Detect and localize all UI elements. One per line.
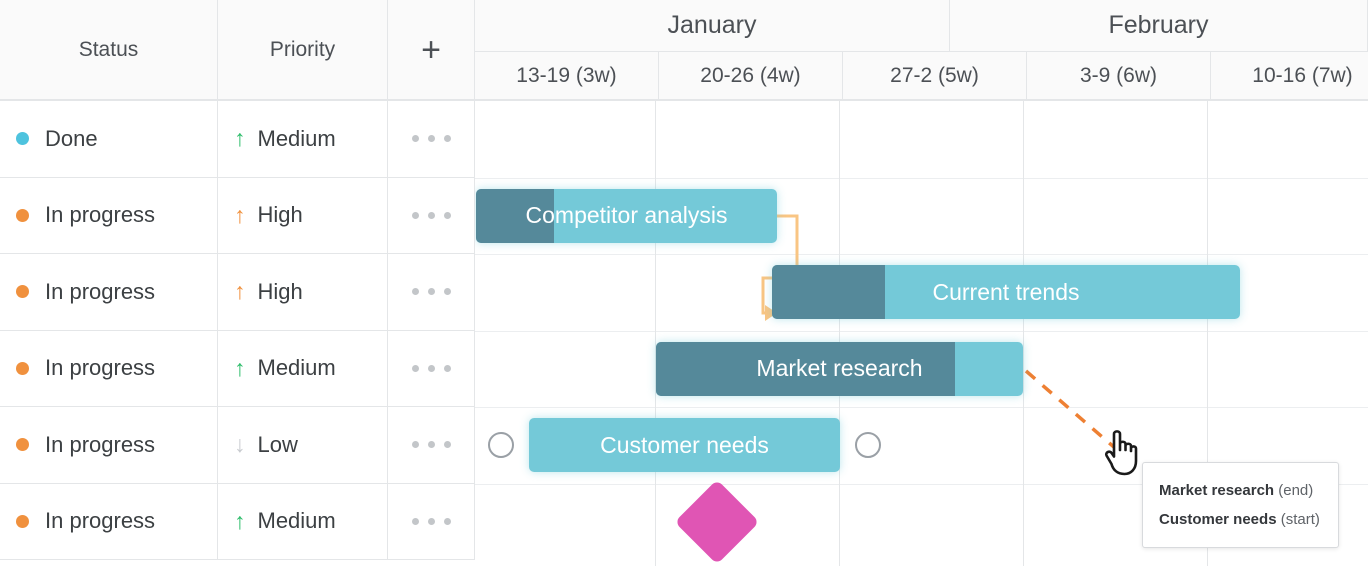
status-label: In progress (45, 432, 155, 458)
gantt-bar-label: Current trends (772, 279, 1240, 306)
table-row[interactable]: In progress↑Medium (0, 484, 475, 561)
week-label: 10-16 (7w) (1252, 64, 1352, 88)
column-header-status[interactable]: Status (0, 0, 218, 99)
bar-end-connector-handle[interactable] (855, 432, 881, 458)
cell-priority[interactable]: ↑Medium (218, 331, 388, 407)
cell-priority[interactable]: ↑High (218, 178, 388, 254)
bar-start-connector-handle[interactable] (488, 432, 514, 458)
column-header-priority[interactable]: Priority (218, 0, 388, 99)
grid-horizontal-line (475, 254, 1368, 255)
cell-priority[interactable]: ↑High (218, 254, 388, 330)
status-label: In progress (45, 279, 155, 305)
priority-arrow-icon: ↑ (234, 127, 246, 150)
grid-vertical-line (1023, 101, 1024, 566)
gantt-bar-label: Competitor analysis (476, 202, 777, 229)
cell-status[interactable]: In progress (0, 484, 218, 560)
row-menu-button[interactable] (388, 331, 475, 407)
table-row[interactable]: Done↑Medium (0, 101, 475, 178)
status-dot-icon (16, 285, 29, 298)
cell-status[interactable]: In progress (0, 331, 218, 407)
tooltip-line: Customer needs (start) (1159, 506, 1322, 535)
timeline-weeks-header: 13-19 (3w)20-26 (4w)27-2 (5w)3-9 (6w)10-… (475, 52, 1368, 101)
status-dot-icon (16, 209, 29, 222)
column-header-priority-label: Priority (270, 38, 335, 62)
table-header-row: Status Priority + (0, 0, 475, 101)
add-column-button[interactable]: + (388, 0, 475, 99)
status-label: In progress (45, 202, 155, 228)
tooltip-line: Market research (end) (1159, 477, 1322, 506)
gantt-bar-label: Customer needs (529, 432, 840, 459)
priority-arrow-icon: ↑ (234, 357, 246, 380)
task-table-body: Done↑MediumIn progress↑HighIn progress↑H… (0, 101, 475, 560)
timeline-week-column: 3-9 (6w) (1027, 52, 1211, 99)
status-dot-icon (16, 438, 29, 451)
priority-label: High (258, 202, 303, 228)
priority-label: High (258, 279, 303, 305)
status-dot-icon (16, 362, 29, 375)
gantt-chart-app: Status Priority + Done↑MediumIn progress… (0, 0, 1368, 566)
status-label: In progress (45, 355, 155, 381)
timeline-month-february: February (950, 0, 1368, 51)
milestone-diamond[interactable] (675, 479, 760, 564)
table-row[interactable]: In progress↑Medium (0, 331, 475, 408)
timeline-week-column: 10-16 (7w) (1211, 52, 1368, 99)
gantt-bar[interactable]: Market research (656, 342, 1023, 396)
ellipsis-icon (412, 365, 451, 372)
ellipsis-icon (412, 518, 451, 525)
grid-horizontal-line (475, 407, 1368, 408)
gantt-bar[interactable]: Customer needs (529, 418, 840, 472)
tooltip-task-name: Market research (1159, 482, 1274, 499)
row-menu-button[interactable] (388, 254, 475, 330)
cell-status[interactable]: In progress (0, 254, 218, 330)
status-dot-icon (16, 515, 29, 528)
cell-status[interactable]: In progress (0, 178, 218, 254)
priority-label: Low (258, 432, 298, 458)
grid-horizontal-line (475, 178, 1368, 179)
table-row[interactable]: In progress↑High (0, 254, 475, 331)
week-label: 3-9 (6w) (1080, 64, 1157, 88)
grid-vertical-line (839, 101, 840, 566)
status-dot-icon (16, 132, 29, 145)
cell-priority[interactable]: ↑Medium (218, 101, 388, 177)
tooltip-task-name: Customer needs (1159, 511, 1277, 528)
row-menu-button[interactable] (388, 178, 475, 254)
row-menu-button[interactable] (388, 407, 475, 483)
gantt-bar[interactable]: Competitor analysis (476, 189, 777, 243)
table-row[interactable]: In progress↑High (0, 178, 475, 255)
ellipsis-icon (412, 441, 451, 448)
row-menu-button[interactable] (388, 484, 475, 560)
table-row[interactable]: In progress↓Low (0, 407, 475, 484)
tooltip-endpoint: (end) (1278, 482, 1313, 499)
task-table-pane: Status Priority + Done↑MediumIn progress… (0, 0, 475, 566)
cell-status[interactable]: In progress (0, 407, 218, 483)
priority-arrow-icon: ↑ (234, 280, 246, 303)
week-label: 13-19 (3w) (516, 64, 616, 88)
week-label: 20-26 (4w) (700, 64, 800, 88)
row-menu-button[interactable] (388, 101, 475, 177)
timeline-week-column: 27-2 (5w) (843, 52, 1027, 99)
month-label: January (668, 11, 757, 40)
priority-arrow-icon: ↑ (234, 510, 246, 533)
status-label: Done (45, 126, 98, 152)
priority-label: Medium (258, 508, 336, 534)
drag-dependency-line (1026, 371, 1115, 448)
priority-label: Medium (258, 355, 336, 381)
cell-priority[interactable]: ↑Medium (218, 484, 388, 560)
plus-icon: + (421, 33, 441, 67)
gantt-bar-label: Market research (656, 355, 1023, 382)
week-label: 27-2 (5w) (890, 64, 979, 88)
grid-horizontal-line (475, 331, 1368, 332)
gantt-bar[interactable]: Current trends (772, 265, 1240, 319)
tooltip-endpoint: (start) (1281, 511, 1320, 528)
timeline-week-column: 20-26 (4w) (659, 52, 843, 99)
timeline-week-column: 13-19 (3w) (475, 52, 659, 99)
priority-arrow-icon: ↑ (234, 204, 246, 227)
timeline-months-header: JanuaryFebruary (475, 0, 1368, 52)
month-label: February (1108, 11, 1208, 40)
priority-label: Medium (258, 126, 336, 152)
grid-vertical-line (655, 101, 656, 566)
connector-tooltip: Market research (end) Customer needs (st… (1142, 462, 1339, 548)
ellipsis-icon (412, 212, 451, 219)
ellipsis-icon (412, 135, 451, 142)
cell-status[interactable]: Done (0, 101, 218, 177)
ellipsis-icon (412, 288, 451, 295)
cell-priority[interactable]: ↓Low (218, 407, 388, 483)
timeline-month-january: January (475, 0, 950, 51)
priority-arrow-icon: ↓ (234, 433, 246, 456)
column-header-status-label: Status (79, 38, 139, 62)
status-label: In progress (45, 508, 155, 534)
